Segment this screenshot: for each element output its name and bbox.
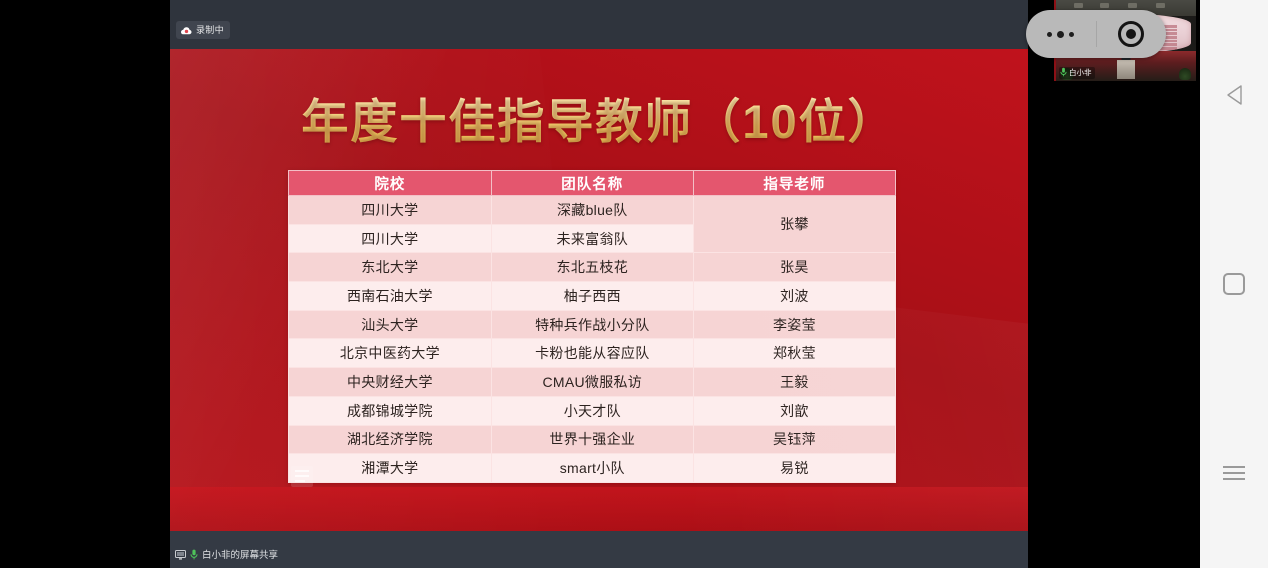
back-triangle-icon <box>1225 84 1243 106</box>
table-row: 成都锦城学院 小天才队 刘歆 <box>289 396 896 425</box>
cell-teacher: 王毅 <box>693 368 895 397</box>
slide-bottom-band <box>170 487 1028 531</box>
meeting-top-bar: 录制中 <box>170 0 1028 49</box>
column-header-teacher: 指导老师 <box>693 171 895 196</box>
recording-badge[interactable]: 录制中 <box>176 21 230 39</box>
slide-list-icon-line <box>295 475 309 477</box>
cell-school: 东北大学 <box>289 253 492 282</box>
cell-school: 北京中医药大学 <box>289 339 492 368</box>
table-row: 汕头大学 特种兵作战小分队 李姿莹 <box>289 310 896 339</box>
cell-school: 成都锦城学院 <box>289 396 492 425</box>
award-table-body: 四川大学 深藏blue队 张攀 四川大学 未来富翁队 东北大学 东北五枝花 张昊 <box>289 196 896 483</box>
cell-teacher: 刘歆 <box>693 396 895 425</box>
cell-team: 卡粉也能从容应队 <box>491 339 693 368</box>
meeting-bottom-bar: 白小非的屏幕共享 <box>170 531 1028 568</box>
table-row: 湘潭大学 smart小队 易锐 <box>289 454 896 483</box>
video-podium <box>1117 60 1135 79</box>
table-row: 西南石油大学 柚子西西 刘波 <box>289 282 896 311</box>
cell-school: 西南石油大学 <box>289 282 492 311</box>
nav-button-back[interactable] <box>1200 65 1268 125</box>
cell-school: 湘潭大学 <box>289 454 492 483</box>
slide-title: 年度十佳指导教师（10位） <box>170 83 1028 152</box>
cell-team: 世界十强企业 <box>491 425 693 454</box>
shared-slide: 年度十佳指导教师（10位） 院校 团队名称 指导老师 四川大学 <box>170 49 1028 531</box>
table-header-row: 院校 团队名称 指导老师 <box>289 171 896 196</box>
slide-list-icon[interactable] <box>291 466 313 487</box>
cell-team: 未来富翁队 <box>491 224 693 253</box>
award-table-wrapper: 院校 团队名称 指导老师 四川大学 深藏blue队 张攀 四川大学 <box>288 170 896 483</box>
cell-team: 小天才队 <box>491 396 693 425</box>
recording-badge-label: 录制中 <box>196 26 224 35</box>
cell-teacher: 张昊 <box>693 253 895 282</box>
microphone-icon <box>1060 64 1067 81</box>
cell-team: 特种兵作战小分队 <box>491 310 693 339</box>
floating-recorder-pill[interactable] <box>1026 10 1166 58</box>
cell-team: 东北五枝花 <box>491 253 693 282</box>
three-dots-icon[interactable] <box>1026 31 1096 38</box>
cloud-record-icon <box>180 26 192 35</box>
column-header-team: 团队名称 <box>491 171 693 196</box>
table-row: 东北大学 东北五枝花 张昊 <box>289 253 896 282</box>
cell-team: 柚子西西 <box>491 282 693 311</box>
device-screen: 录制中 年度十佳指导教师（10位） 院校 团队名称 指导老师 <box>0 0 1268 568</box>
self-view-name-label: 白小非 <box>1069 69 1092 77</box>
microphone-icon <box>190 547 198 565</box>
screen-share-status-label: 白小非的屏幕共享 <box>202 551 278 561</box>
cell-school: 四川大学 <box>289 196 492 225</box>
table-row: 四川大学 深藏blue队 张攀 <box>289 196 896 225</box>
meeting-window: 录制中 年度十佳指导教师（10位） 院校 团队名称 指导老师 <box>170 0 1028 568</box>
award-table: 院校 团队名称 指导老师 四川大学 深藏blue队 张攀 四川大学 <box>288 170 896 483</box>
cell-teacher: 易锐 <box>693 454 895 483</box>
android-nav-bar <box>1200 0 1268 568</box>
recents-menu-icon <box>1223 466 1245 480</box>
slide-list-icon-line <box>295 480 305 482</box>
video-plant <box>1179 68 1191 80</box>
cell-team: smart小队 <box>491 454 693 483</box>
record-circle-icon <box>1118 21 1144 47</box>
nav-button-home[interactable] <box>1200 254 1268 314</box>
screen-share-status: 白小非的屏幕共享 <box>175 547 278 565</box>
cell-team: CMAU微服私访 <box>491 368 693 397</box>
record-button[interactable] <box>1097 21 1167 47</box>
cell-teacher: 张攀 <box>693 196 895 253</box>
table-row: 北京中医药大学 卡粉也能从容应队 郑秋莹 <box>289 339 896 368</box>
nav-button-recents[interactable] <box>1200 443 1268 503</box>
cell-school: 汕头大学 <box>289 310 492 339</box>
cell-teacher: 郑秋莹 <box>693 339 895 368</box>
table-row: 湖北经济学院 世界十强企业 吴钰萍 <box>289 425 896 454</box>
monitor-icon <box>175 547 186 565</box>
table-row: 中央财经大学 CMAU微服私访 王毅 <box>289 368 896 397</box>
cell-teacher: 吴钰萍 <box>693 425 895 454</box>
cell-teacher: 刘波 <box>693 282 895 311</box>
cell-school: 四川大学 <box>289 224 492 253</box>
slide-list-icon-line <box>295 470 309 472</box>
self-view-name-badge: 白小非 <box>1059 67 1095 79</box>
cell-team: 深藏blue队 <box>491 196 693 225</box>
cell-school: 湖北经济学院 <box>289 425 492 454</box>
column-header-school: 院校 <box>289 171 492 196</box>
home-square-icon <box>1223 273 1245 295</box>
cell-teacher: 李姿莹 <box>693 310 895 339</box>
cell-school: 中央财经大学 <box>289 368 492 397</box>
